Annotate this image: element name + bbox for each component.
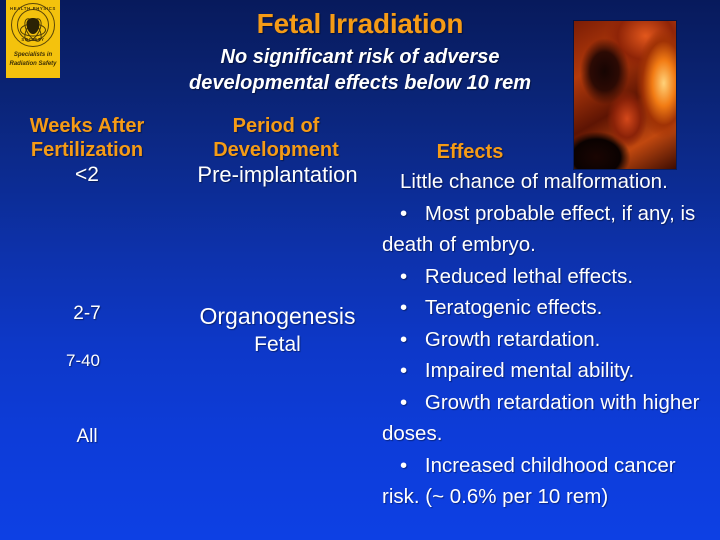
effects-list: Little chance of malformation.• Most pro… <box>382 166 718 513</box>
bullet-icon: • <box>400 296 425 319</box>
effect-item-text: Little chance of malformation. <box>400 170 668 193</box>
bullet-icon: • <box>400 359 425 382</box>
effect-item: • Teratogenic effects. <box>382 292 718 324</box>
effect-item-text: Growth retardation with higher doses. <box>382 391 699 446</box>
effect-item: • Growth retardation with higher doses. <box>382 387 718 450</box>
bullet-icon: • <box>400 391 425 414</box>
column-header-weeks-line1: Weeks After <box>2 114 172 138</box>
column-header-weeks: Weeks After Fertilization <box>2 114 172 162</box>
column-header-weeks-line2: Fertilization <box>2 138 172 162</box>
effect-item-text: Increased childhood cancer risk. (~ 0.6%… <box>382 454 676 509</box>
effect-item: Little chance of malformation. <box>382 166 718 198</box>
period-value: Organogenesis <box>160 303 395 330</box>
slide-canvas: HEALTH PHYSICS SOCIETY Specialists in Ra… <box>0 0 720 540</box>
column-header-period-line2: Development <box>178 138 374 162</box>
effect-item: • Reduced lethal effects. <box>382 261 718 293</box>
effect-item: • Growth retardation. <box>382 324 718 356</box>
weeks-value: 2-7 <box>22 303 152 325</box>
column-header-period-line1: Period of <box>178 114 374 138</box>
effect-item: • Increased childhood cancer risk. (~ 0.… <box>382 450 718 513</box>
period-value: Fetal <box>160 333 395 357</box>
effect-item: • Impaired mental ability. <box>382 355 718 387</box>
column-header-period: Period of Development <box>178 114 374 162</box>
effect-item-text: Reduced lethal effects. <box>425 265 633 288</box>
bullet-icon: • <box>400 265 425 288</box>
effect-item-text: Growth retardation. <box>425 328 600 351</box>
bullet-icon: • <box>400 202 425 225</box>
effect-item-text: Impaired mental ability. <box>425 359 634 382</box>
effect-item-text: Teratogenic effects. <box>425 296 602 319</box>
weeks-value: 7-40 <box>18 351 148 371</box>
effect-item: • Most probable effect, if any, is death… <box>382 198 718 261</box>
column-header-effects: Effects <box>380 140 560 164</box>
bullet-icon: • <box>400 454 425 477</box>
fetus-photo <box>574 21 676 169</box>
weeks-value: <2 <box>22 163 152 187</box>
bullet-icon: • <box>400 328 425 351</box>
weeks-value: All <box>22 426 152 448</box>
period-value: Pre-implantation <box>160 162 395 188</box>
effect-item-text: Most probable effect, if any, is death o… <box>382 202 695 257</box>
